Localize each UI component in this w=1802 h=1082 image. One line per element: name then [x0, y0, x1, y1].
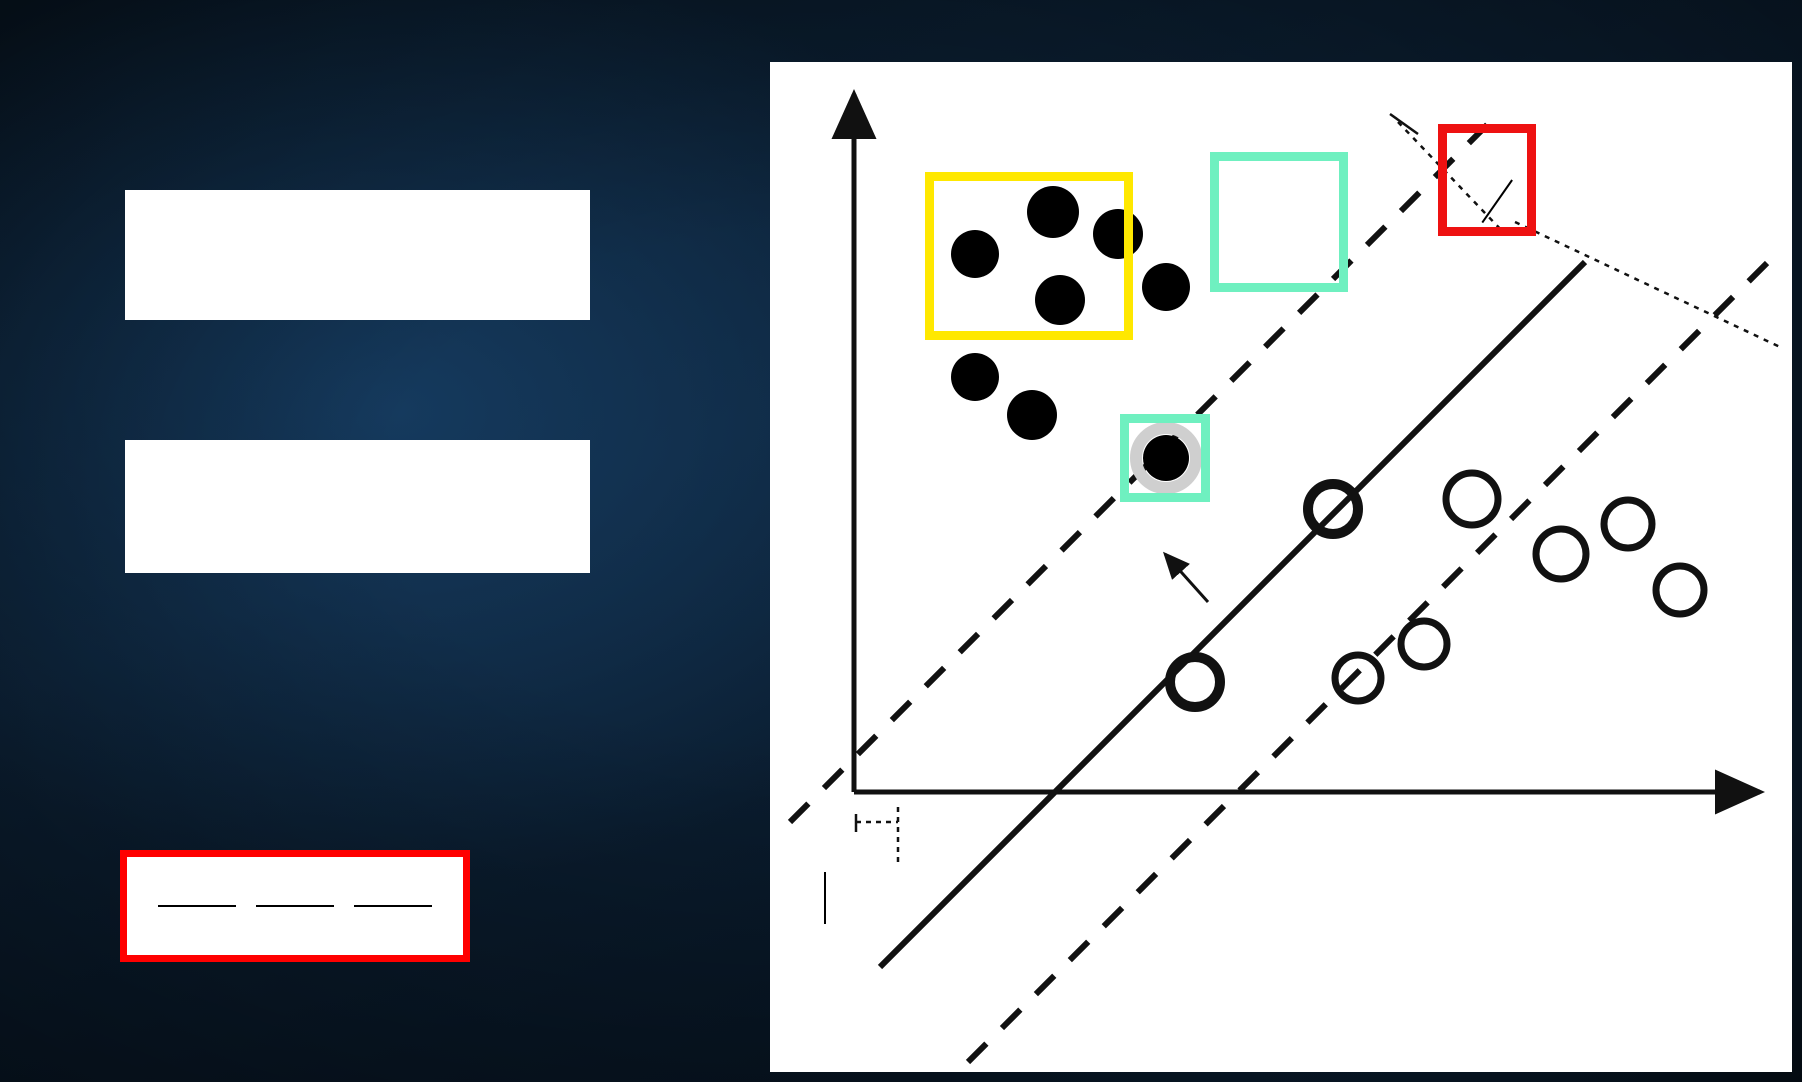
formula-card-non-support-vector: [125, 440, 590, 573]
formula-card-support-vector: [125, 190, 590, 320]
margin-line-negative: [968, 250, 1780, 1062]
svm-diagram-panel: [770, 62, 1792, 1072]
highlight-box-red-margin-width: [1438, 124, 1536, 236]
margin-fraction-3: [354, 903, 432, 910]
formula-card-margin: [120, 850, 470, 962]
offset-fraction: [823, 872, 827, 924]
normal-vector-arrow: [1165, 554, 1208, 602]
margin-fraction-2: [256, 903, 334, 910]
margin-equation: [127, 857, 463, 955]
highlight-box-green-margin-label: [1210, 152, 1348, 292]
highlight-box-green-support-vector: [1120, 414, 1210, 502]
margin-frac2-bar: [256, 905, 334, 908]
label-offset-fraction: [810, 872, 828, 924]
margin-frac1-bar: [158, 905, 236, 908]
slide-text-column: [0, 0, 770, 1082]
offset-bar: [824, 872, 826, 924]
offset-measure: [856, 807, 898, 862]
highlight-box-yellow-cluster: [925, 172, 1133, 340]
margin-frac3-bar: [354, 905, 432, 908]
margin-fraction-1: [158, 903, 236, 910]
